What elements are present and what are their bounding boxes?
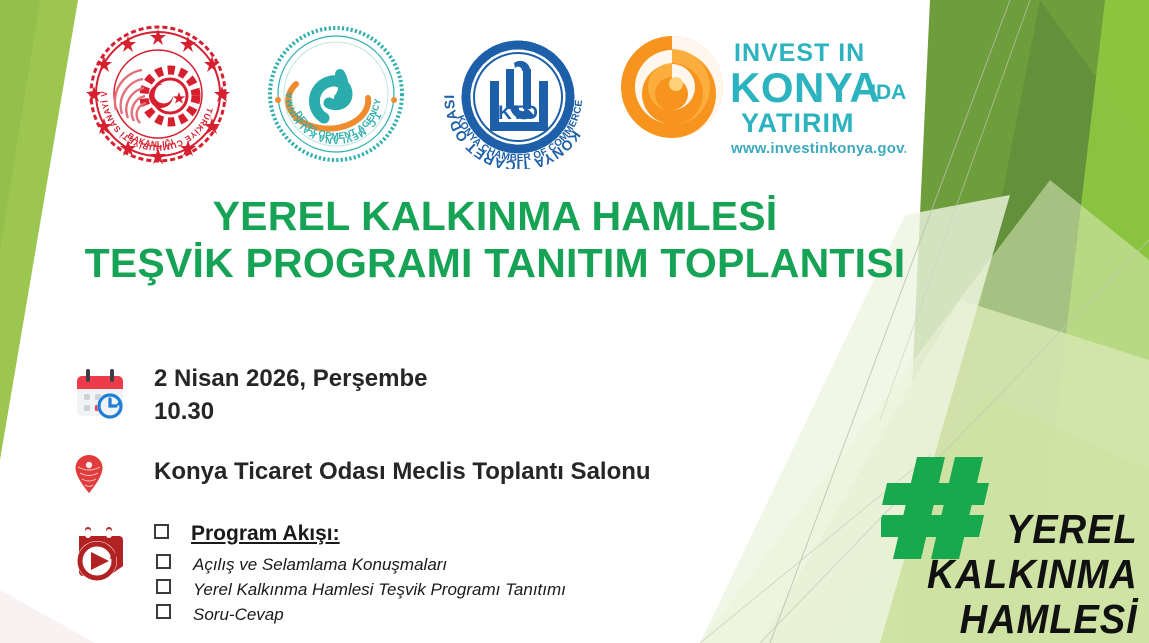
- svg-text:YATIRIM: YATIRIM: [741, 108, 855, 138]
- svg-text:KONYA: KONYA: [730, 64, 880, 111]
- svg-text:INVEST IN: INVEST IN: [734, 39, 865, 67]
- svg-text:'DA: 'DA: [871, 81, 906, 104]
- konya-chamber-of-commerce-logo: KTO KONYA TİCARET ODASI KONYA CHAMBER OF…: [430, 19, 606, 169]
- program-heading-row: Program Akışı:: [154, 522, 566, 546]
- program-item: Soru-Cevap: [154, 605, 566, 625]
- bullet-square-icon: [154, 524, 169, 539]
- time-text: 10.30: [154, 395, 428, 428]
- title-line-2: TEŞVİK PROGRAMI TANITIM TOPLANTISI: [0, 240, 990, 287]
- poster-title: YEREL KALKINMA HAMLESİ TEŞVİK PROGRAMI T…: [0, 193, 990, 287]
- mevlana-development-agency-logo: T.C. MEVLANA KALKINMA AJANSI DEVELOPMENT…: [252, 22, 420, 167]
- svg-text:KTO: KTO: [498, 103, 538, 124]
- bullet-square-icon: [156, 554, 171, 569]
- invest-in-konya-logo: INVEST IN KONYA 'DA YATIRIM www.investin…: [616, 29, 906, 159]
- swirl-globe-icon: [621, 36, 723, 138]
- program-item-label: Yerel Kalkınma Hamlesi Teşvik Programı T…: [193, 580, 566, 600]
- location-text: Konya Ticaret Odası Meclis Toplantı Salo…: [154, 458, 651, 486]
- hashtag-line-2: KALKINMA: [927, 552, 1138, 598]
- logo-row: TÜRKİYE CUMHURİYETİ SANAYİ VE TEKNOLOJİ …: [78, 14, 958, 174]
- calendar-play-icon: [72, 524, 126, 587]
- program-item-label: Soru-Cevap: [193, 605, 284, 625]
- bullet-square-icon: [156, 579, 171, 594]
- calendar-clock-icon: [72, 366, 128, 427]
- program-item: Açılış ve Selamlama Konuşmaları: [154, 555, 566, 575]
- date-text: 2 Nisan 2026, Perşembe: [154, 362, 428, 395]
- title-line-1: YEREL KALKINMA HAMLESİ: [0, 193, 990, 240]
- ministry-of-industry-and-technology-logo: TÜRKİYE CUMHURİYETİ SANAYİ VE TEKNOLOJİ …: [78, 22, 238, 167]
- hashtag-lockup: YEREL KALKINMA HAMLESİ: [881, 435, 1141, 643]
- event-poster: TÜRKİYE CUMHURİYETİ SANAYİ VE TEKNOLOJİ …: [0, 0, 1149, 643]
- date-time-text: 2 Nisan 2026, Perşembe 10.30: [154, 362, 428, 428]
- program-list: Program Akışı: Açılış ve Selamlama Konuş…: [154, 522, 566, 630]
- hashtag-line-1: YEREL: [1006, 507, 1138, 553]
- program-item: Yerel Kalkınma Hamlesi Teşvik Programı T…: [154, 580, 566, 600]
- hash-symbol: [881, 457, 989, 559]
- program-heading: Program Akışı:: [191, 522, 340, 546]
- map-pin-icon: [72, 452, 106, 501]
- hashtag-line-3: HAMLESİ: [960, 597, 1139, 643]
- bullet-square-icon: [156, 604, 171, 619]
- program-item-label: Açılış ve Selamlama Konuşmaları: [193, 555, 447, 575]
- svg-text:www.investinkonya.gov.tr: www.investinkonya.gov.tr: [730, 140, 906, 157]
